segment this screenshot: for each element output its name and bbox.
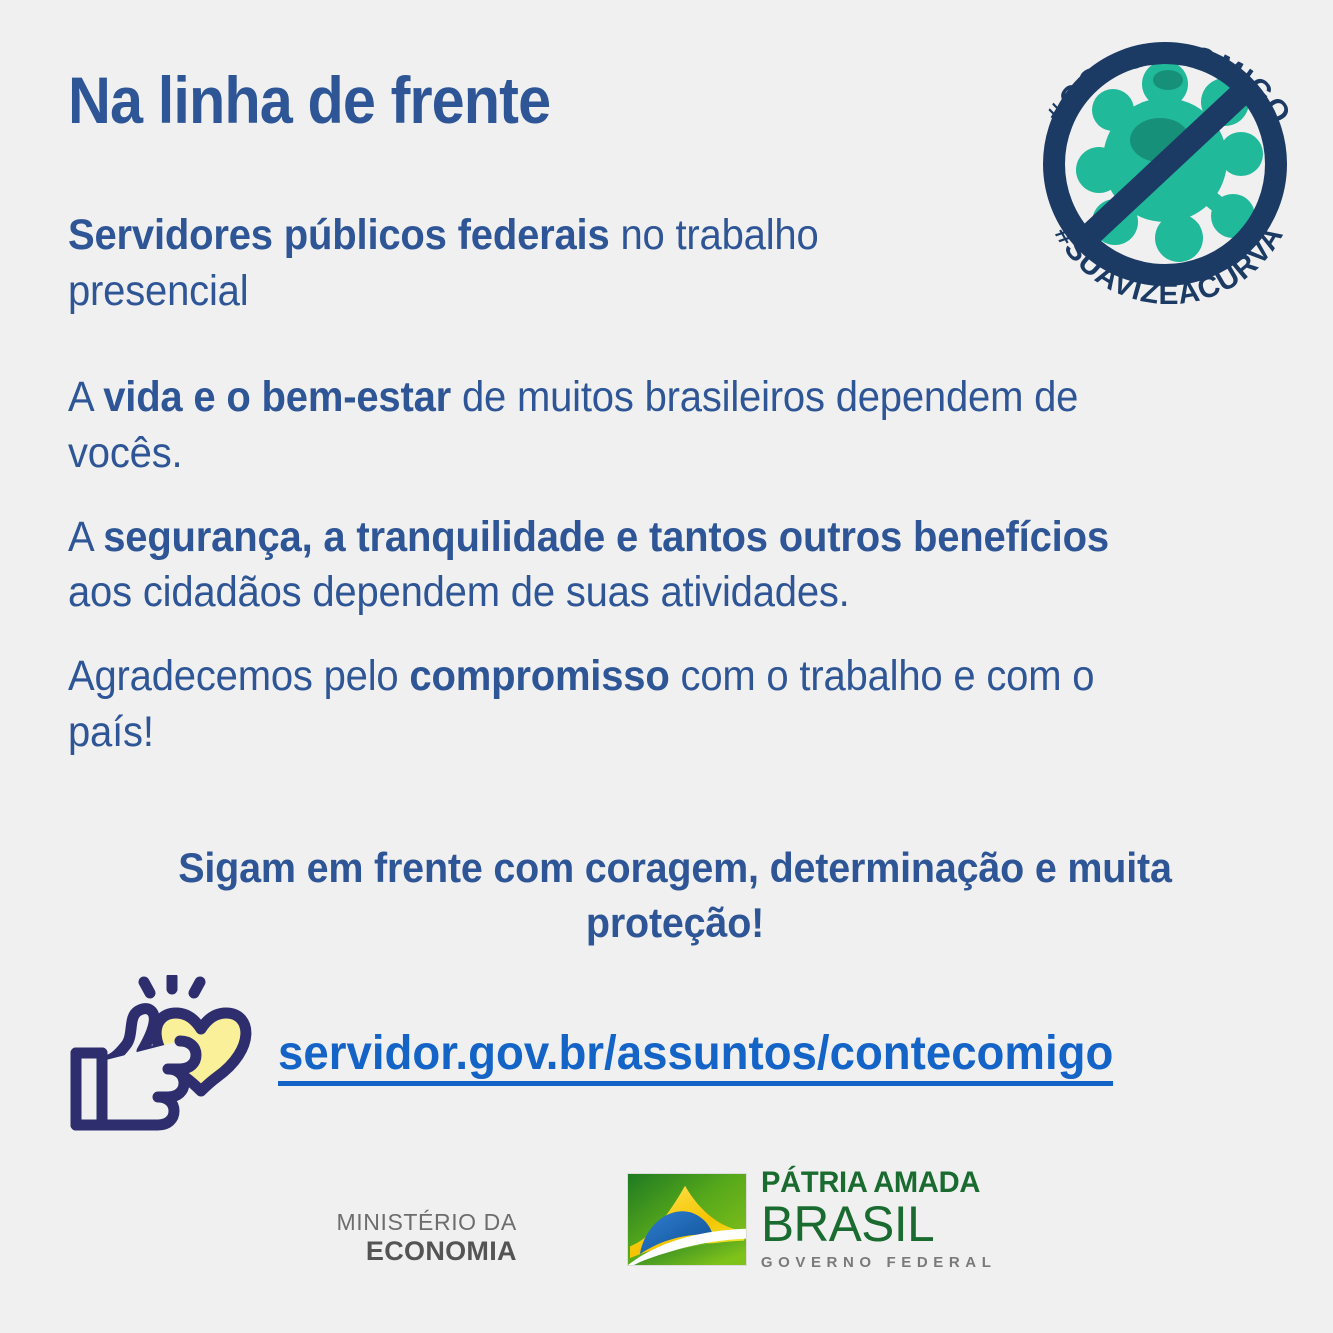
footer: MINISTÉRIO DA ECONOMIA <box>0 1168 1333 1270</box>
patria-amada-text: PÁTRIA AMADA <box>761 1168 990 1198</box>
contecomigo-url-link[interactable]: servidor.gov.br/assuntos/contecomigo <box>278 1029 1113 1086</box>
brasil-wordmark: PÁTRIA AMADA BRASIL GOVERNO FEDERAL <box>761 1168 997 1270</box>
paragraph-3: A segurança, a tranquilidade e tantos ou… <box>68 510 1170 622</box>
body-copy: Servidores públicos federais no trabalho… <box>68 208 1253 789</box>
page-title: Na linha de frente <box>68 62 550 138</box>
paragraph-1: Servidores públicos federais no trabalho… <box>68 208 998 320</box>
ministry-logo: MINISTÉRIO DA ECONOMIA <box>337 1210 517 1266</box>
brasil-text: BRASIL <box>761 1199 994 1249</box>
poster-canvas: Na linha de frente <box>0 0 1333 1333</box>
ministry-line-1: MINISTÉRIO DA <box>337 1210 517 1236</box>
governo-federal-text: GOVERNO FEDERAL <box>761 1255 997 1270</box>
brazil-flag-emblem <box>627 1173 747 1266</box>
thumbs-up-heart-icon <box>68 975 258 1140</box>
paragraph-4: Agradecemos pelo compromisso com o traba… <box>68 649 1170 761</box>
call-to-action: Sigam em frente com coragem, determinaçã… <box>144 840 1206 951</box>
ministry-line-2: ECONOMIA <box>337 1236 517 1266</box>
government-logo: PÁTRIA AMADA BRASIL GOVERNO FEDERAL <box>627 1168 997 1270</box>
link-row: servidor.gov.br/assuntos/contecomigo <box>68 975 1157 1140</box>
paragraph-2: A vida e o bem-estar de muitos brasileir… <box>68 370 1170 482</box>
